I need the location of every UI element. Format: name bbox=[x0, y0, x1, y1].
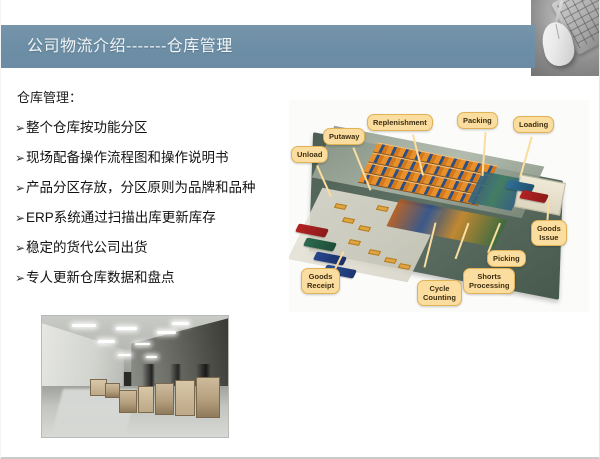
list-item: ➢ 专人更新仓库数据和盘点 bbox=[15, 268, 295, 298]
ceiling-light bbox=[172, 322, 189, 325]
cardboard-box bbox=[175, 380, 195, 416]
warehouse-process-isometric-diagram: Unload Putaway Replenishment Packing Loa… bbox=[289, 100, 589, 312]
computer-mouse-and-keyboard-photo bbox=[531, 0, 600, 76]
callout-putaway: Putaway bbox=[323, 128, 365, 145]
callout-label-line2: Receipt bbox=[307, 281, 334, 290]
callout-shorts-processing: Shorts Processing bbox=[463, 268, 515, 294]
presentation-slide: 公司物流介绍-------仓库管理 仓库管理： ➢ 整个仓库按功能分区 ➢ 现场… bbox=[0, 0, 600, 459]
list-item: ➢ 稳定的货代公司出货 bbox=[15, 238, 295, 268]
callout-picking: Picking bbox=[487, 250, 526, 267]
cardboard-box bbox=[138, 386, 154, 413]
callout-packing: Packing bbox=[457, 112, 498, 129]
slide-bottom-divider bbox=[1, 457, 599, 458]
bullet-arrow-icon: ➢ bbox=[15, 178, 26, 198]
callout-replenishment: Replenishment bbox=[367, 114, 433, 131]
callout-unload: Unload bbox=[291, 146, 328, 163]
page-title: 公司物流介绍-------仓库管理 bbox=[27, 33, 233, 60]
callout-label: Unload bbox=[297, 150, 322, 159]
bullet-arrow-icon: ➢ bbox=[15, 268, 26, 288]
bullet-arrow-icon: ➢ bbox=[15, 118, 26, 138]
callout-label-line2: Counting bbox=[423, 293, 456, 302]
photo-pallet-group bbox=[116, 372, 224, 420]
callout-label: Picking bbox=[493, 254, 520, 263]
bullet-arrow-icon: ➢ bbox=[15, 208, 26, 228]
callout-label: Packing bbox=[463, 116, 492, 125]
list-item: ➢ 整个仓库按功能分区 bbox=[15, 118, 295, 148]
callout-label: Replenishment bbox=[373, 118, 427, 127]
callout-cycle-counting: Cycle Counting bbox=[417, 280, 462, 306]
ceiling-light bbox=[118, 354, 131, 356]
warehouse-corridor-photo bbox=[41, 315, 229, 438]
callout-label: Loading bbox=[519, 120, 548, 129]
list-item: ➢ ERP系统通过扫描出库更新库存 bbox=[15, 208, 295, 238]
body-heading: 仓库管理： bbox=[17, 89, 82, 107]
list-item-label: 现场配备操作流程图和操作说明书 bbox=[26, 148, 229, 168]
list-item-label: 稳定的货代公司出货 bbox=[26, 238, 148, 258]
bullet-arrow-icon: ➢ bbox=[15, 148, 26, 168]
bullet-list: ➢ 整个仓库按功能分区 ➢ 现场配备操作流程图和操作说明书 ➢ 产品分区存放，分… bbox=[15, 118, 295, 298]
cardboard-box bbox=[196, 377, 220, 419]
photo-grayscale-overlay bbox=[531, 0, 600, 76]
callout-label-line1: Goods bbox=[309, 272, 333, 281]
ceiling-light bbox=[98, 340, 115, 343]
callout-loading: Loading bbox=[513, 116, 554, 133]
callout-label-line1: Shorts bbox=[477, 272, 501, 281]
callout-label: Putaway bbox=[329, 132, 359, 141]
list-item: ➢ 现场配备操作流程图和操作说明书 bbox=[15, 148, 295, 178]
list-item: ➢ 产品分区存放，分区原则为品牌和品种 bbox=[15, 178, 295, 208]
ceiling-light bbox=[116, 327, 136, 330]
callout-goods-issue: Goods Issue bbox=[531, 220, 567, 246]
callout-label-line2: Issue bbox=[539, 233, 558, 242]
cardboard-box bbox=[155, 383, 173, 415]
ceiling-light bbox=[157, 331, 176, 334]
cardboard-box bbox=[119, 390, 137, 413]
list-item-label: ERP系统通过扫描出库更新库存 bbox=[26, 208, 216, 228]
callout-label-line1: Cycle bbox=[429, 284, 449, 293]
bullet-arrow-icon: ➢ bbox=[15, 238, 26, 258]
callout-goods-receipt: Goods Receipt bbox=[301, 268, 340, 294]
cardboard-box bbox=[105, 383, 120, 399]
ceiling-light bbox=[135, 343, 150, 346]
list-item-label: 专人更新仓库数据和盘点 bbox=[26, 268, 175, 288]
ceiling-light bbox=[146, 356, 157, 358]
list-item-label: 产品分区存放，分区原则为品牌和品种 bbox=[26, 178, 256, 198]
list-item-label: 整个仓库按功能分区 bbox=[26, 118, 148, 138]
callout-label-line1: Goods bbox=[537, 224, 561, 233]
callout-label-line2: Processing bbox=[469, 281, 509, 290]
